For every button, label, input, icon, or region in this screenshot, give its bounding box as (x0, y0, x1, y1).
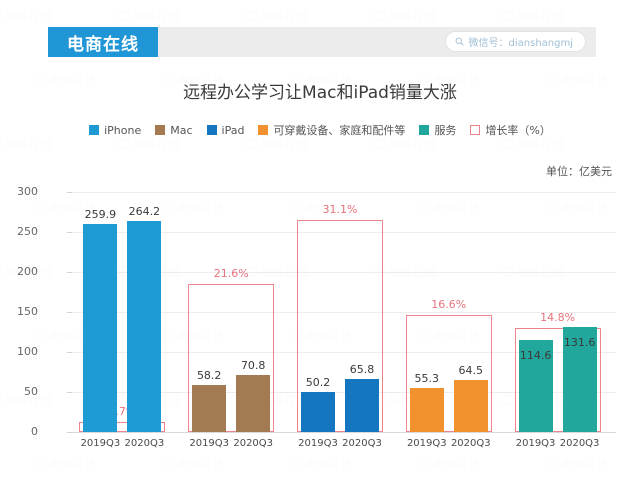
brand-logo: 电商在线 (48, 27, 158, 57)
bar[interactable] (236, 375, 270, 432)
x-axis-tick-label: 2020Q3 (560, 438, 600, 449)
bar-value-label: 64.5 (459, 364, 484, 377)
x-axis-tick-label: 2020Q3 (233, 438, 273, 449)
bar[interactable] (301, 392, 335, 432)
x-axis-tick-label: 2019Q3 (81, 438, 121, 449)
growth-rate-label: 21.6% (214, 267, 249, 280)
x-axis-tick-label: 2020Q3 (451, 438, 491, 449)
y-axis-tick-label: 300 (0, 185, 38, 198)
y-axis-tick-label: 0 (0, 425, 38, 438)
x-axis-tick-label: 2019Q3 (189, 438, 229, 449)
plot-wrapper: 0501001502002503001.7%259.92019Q3264.220… (0, 0, 640, 494)
bar-value-label: 264.2 (129, 205, 161, 218)
screenshot-root: 电商在线电商在线电商在线电商在线电商在线电商在线电商在线电商在线电商在线电商在线… (0, 0, 640, 494)
growth-rate-label: 31.1% (323, 203, 358, 216)
growth-rate-label: 14.8% (540, 311, 575, 324)
bar-value-label: 58.2 (197, 369, 222, 382)
x-axis-tick-label: 2020Q3 (342, 438, 382, 449)
y-axis-tick-label: 100 (0, 345, 38, 358)
x-axis-tick-label: 2019Q3 (407, 438, 447, 449)
bar-value-label: 55.3 (415, 372, 440, 385)
bar[interactable] (454, 380, 488, 432)
y-axis-tick-label: 200 (0, 265, 38, 278)
bar-group: 31.1%50.22019Q365.82020Q3 (290, 192, 399, 432)
bar-group: 21.6%58.22019Q370.82020Q3 (181, 192, 290, 432)
y-axis-tick-label: 50 (0, 385, 38, 398)
bar-value-label: 50.2 (306, 376, 331, 389)
bar-value-label: 259.9 (85, 208, 117, 221)
bar[interactable] (345, 379, 379, 432)
bar[interactable] (127, 221, 161, 432)
bar[interactable] (410, 388, 444, 432)
x-axis-tick-label: 2020Q3 (125, 438, 165, 449)
bar-group: 16.6%55.32019Q364.52020Q3 (398, 192, 507, 432)
bar-group: 14.8%114.62019Q3131.62020Q3 (507, 192, 616, 432)
bar-value-label: 65.8 (350, 363, 375, 376)
bar-group: 1.7%259.92019Q3264.22020Q3 (72, 192, 181, 432)
y-axis-tick-mark (67, 432, 72, 433)
gridline (72, 432, 616, 433)
y-axis-tick-label: 250 (0, 225, 38, 238)
bar-value-label: 70.8 (241, 359, 266, 372)
bar[interactable] (83, 224, 117, 432)
x-axis-tick-label: 2019Q3 (298, 438, 338, 449)
growth-rate-label: 16.6% (431, 298, 466, 311)
plot-area: 0501001502002503001.7%259.92019Q3264.220… (72, 192, 616, 432)
y-axis-tick-label: 150 (0, 305, 38, 318)
bar-value-label: 131.6 (564, 336, 596, 349)
bar[interactable] (192, 385, 226, 432)
bar-value-label: 114.6 (520, 349, 552, 362)
x-axis-tick-label: 2019Q3 (516, 438, 556, 449)
